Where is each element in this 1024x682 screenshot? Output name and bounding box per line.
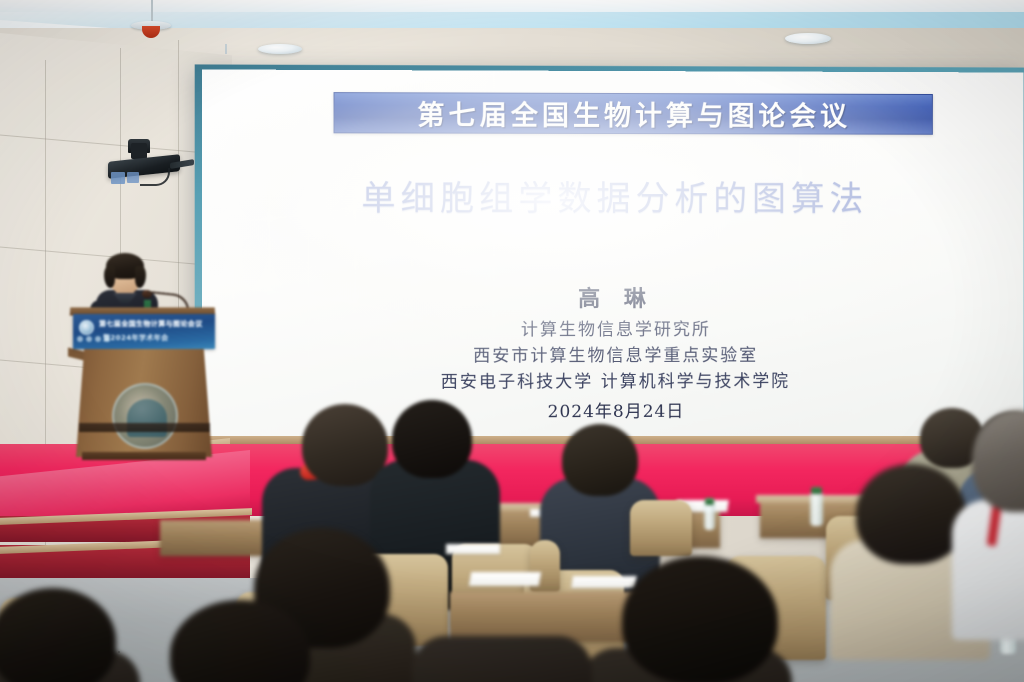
water-bottle[interactable] (704, 502, 715, 530)
slide-banner: 第七届全国生物计算与图论会议 (334, 92, 933, 135)
slide-presentation-title: 单细胞组学数据分析的图算法 (202, 170, 1024, 220)
logo-dot-icon (95, 336, 101, 342)
affiliation-line: 计算生物信息学研究所 (202, 316, 1024, 343)
bottle-cap (811, 487, 822, 494)
ceiling-downlight-icon (785, 33, 831, 44)
slide-speaker-name: 高 琳 (202, 281, 1024, 314)
ceiling-downlight-icon (258, 44, 302, 54)
attendee-torso (952, 500, 1024, 640)
bottle-cap (705, 498, 714, 505)
university-seal-icon (112, 383, 178, 449)
podium-banner-logo-row (77, 336, 110, 342)
presentation-slide: 第七届全国生物计算与图论会议 单细胞组学数据分析的图算法 高 琳 计算生物信息学… (202, 69, 1024, 440)
paper-document (446, 544, 500, 554)
logo-dot-icon (77, 336, 83, 342)
projection-screen: 第七届全国生物计算与图论会议 单细胞组学数据分析的图算法 高 琳 计算生物信息学… (202, 69, 1024, 440)
paper-document (571, 576, 637, 588)
attendee-head (562, 424, 638, 496)
slide-banner-title: 第七届全国生物计算与图论会议 (417, 93, 851, 133)
affiliation-line: 西安市计算生物信息学重点实验室 (202, 342, 1024, 370)
camera-mount-plate (111, 172, 125, 184)
podium-base (82, 452, 206, 460)
slide-affiliations: 计算生物信息学研究所 西安市计算生物信息学重点实验室 西安电子科技大学 计算机科… (202, 316, 1024, 396)
light-stem (225, 44, 227, 54)
podium-banner: 第七届全国生物计算与图论会议 暨2024年学术年会 (73, 314, 215, 349)
ceiling-edge-trim (0, 0, 1024, 12)
camera-bracket (131, 143, 147, 159)
logo-dot-icon (104, 336, 110, 342)
podium-shadow-band (79, 423, 210, 432)
chair[interactable] (630, 500, 692, 556)
attendee-head (392, 400, 472, 478)
podium-banner-line-2: 暨2024年学术年会 (103, 333, 211, 343)
podium-banner-line-1: 第七届全国生物计算与图论会议 (99, 319, 211, 329)
camera-mount-plate (127, 172, 139, 183)
attendee-head (856, 464, 966, 564)
speaker-hair-side (104, 266, 115, 288)
podium-banner-seal-icon (79, 320, 94, 335)
conference-hall-scene: 第七届全国生物计算与图论会议 单细胞组学数据分析的图算法 高 琳 计算生物信息学… (0, 0, 1024, 682)
water-bottle[interactable] (810, 492, 823, 526)
logo-dot-icon (86, 336, 92, 342)
attendee-head (622, 556, 778, 682)
attendee-torso (412, 636, 592, 682)
sprinkler-stem (151, 0, 153, 22)
affiliation-line: 西安电子科技大学 计算机科学与技术学院 (202, 368, 1024, 396)
paper-document (469, 572, 541, 586)
